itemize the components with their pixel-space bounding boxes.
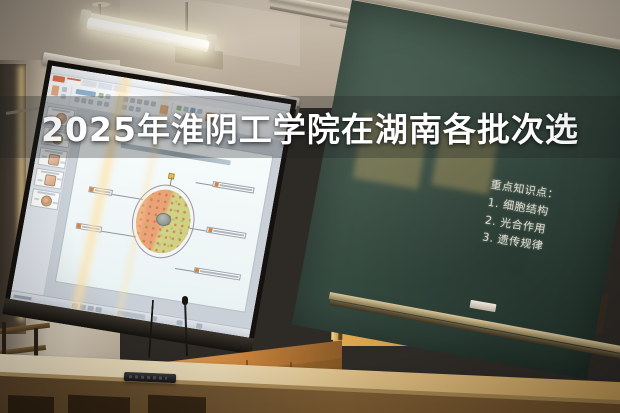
cell-diagram xyxy=(127,180,201,263)
desk-compartment xyxy=(8,395,54,413)
view-sorter-icon[interactable] xyxy=(79,304,86,310)
microphone-icon xyxy=(182,296,188,305)
diagram-label-tag xyxy=(75,223,102,233)
view-reading-icon[interactable] xyxy=(87,306,94,312)
diagram-label-tag xyxy=(212,181,254,194)
diagram-label-tag xyxy=(206,226,247,238)
classroom-photo: 重点知识点： 1. 细胞结构 2. 光合作用 3. 遗传规律 xyxy=(0,0,620,413)
slideshow-icon[interactable] xyxy=(95,307,102,313)
view-normal-icon[interactable] xyxy=(71,303,78,309)
diagram-label-tag xyxy=(193,267,241,281)
slide-thumbnail[interactable] xyxy=(30,188,61,210)
diagram-label-tag xyxy=(88,186,113,196)
status-extra-icon[interactable] xyxy=(196,323,203,329)
lamp-mount-plate xyxy=(92,2,110,7)
slide-thumbnail[interactable] xyxy=(34,168,65,190)
remote-buttons[interactable] xyxy=(129,375,167,380)
page-title: 2025年淮阴工学院在湖南各批次选 xyxy=(0,96,620,158)
desk-compartment xyxy=(148,395,206,413)
lamp-rod-right xyxy=(185,2,188,34)
status-extra-icon[interactable] xyxy=(176,320,183,326)
desk-compartment xyxy=(68,395,130,413)
